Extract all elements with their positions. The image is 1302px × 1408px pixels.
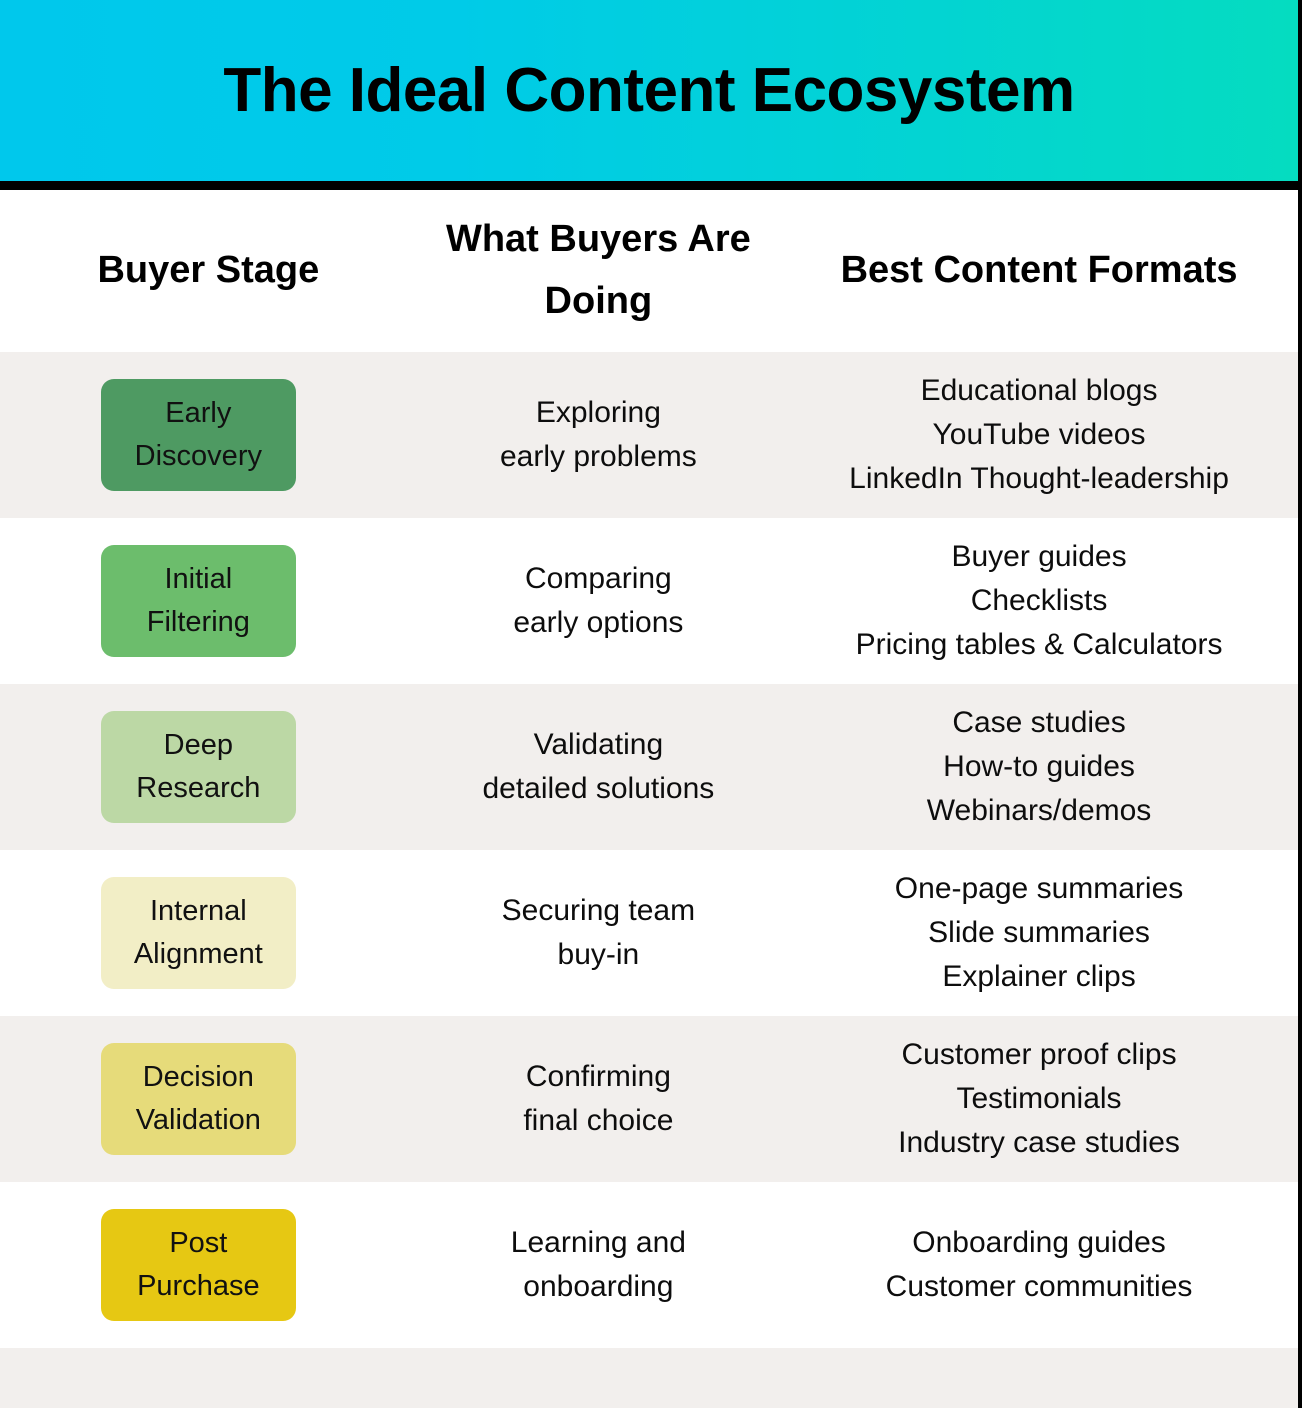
cell-doing: Confirming final choice [417, 1055, 780, 1143]
cell-stage: Initial Filtering [0, 545, 417, 657]
stage-badge-line1: Initial [164, 558, 232, 602]
stage-badge-line1: Decision [143, 1056, 254, 1100]
format-item: Onboarding guides [886, 1221, 1193, 1265]
formats-list: Educational blogsYouTube videosLinkedIn … [849, 369, 1229, 501]
header-formats-line1: Best Content [841, 249, 1077, 291]
cell-stage: Decision Validation [0, 1043, 417, 1155]
stage-badge: Initial Filtering [101, 545, 296, 657]
format-item: Industry case studies [898, 1121, 1180, 1165]
stage-badge-line1: Internal [150, 890, 247, 934]
stage-badge: Decision Validation [101, 1043, 296, 1155]
doing-line2: early options [513, 601, 683, 645]
cell-formats: Onboarding guidesCustomer communities [780, 1221, 1298, 1309]
cell-doing: Securing team buy-in [417, 889, 780, 977]
header-cell-doing: What Buyers Are Doing [417, 209, 780, 332]
doing-line1: Securing team [502, 889, 695, 933]
doing-text: Confirming final choice [523, 1055, 673, 1143]
table-header-row: Buyer Stage What Buyers Are Doing Best C… [0, 190, 1298, 352]
doing-line2: detailed solutions [482, 767, 714, 811]
format-item: Buyer guides [856, 535, 1223, 579]
header-doing-line1: What Buyers [446, 218, 678, 260]
cell-stage: Deep Research [0, 711, 417, 823]
stage-badge-line2: Research [136, 767, 260, 811]
cell-formats: Educational blogsYouTube videosLinkedIn … [780, 369, 1298, 501]
cell-stage: Post Purchase [0, 1209, 417, 1321]
format-item: Customer proof clips [898, 1033, 1180, 1077]
format-item: One-page summaries [895, 867, 1183, 911]
stage-badge-line2: Discovery [135, 435, 262, 479]
header-label-formats: Best Content Formats [841, 240, 1238, 302]
cell-doing: Learning and onboarding [417, 1221, 780, 1309]
cell-formats: Customer proof clipsTestimonialsIndustry… [780, 1033, 1298, 1165]
doing-text: Exploring early problems [500, 391, 697, 479]
doing-line2: final choice [523, 1099, 673, 1143]
header-stage-line1: Buyer [97, 249, 205, 291]
table-row: Initial Filtering Comparing early option… [0, 518, 1298, 684]
format-item: Case studies [927, 701, 1152, 745]
stage-badge-line1: Deep [164, 724, 233, 768]
table-row: Decision Validation Confirming final cho… [0, 1016, 1298, 1182]
table-row: Deep Research Validating detailed soluti… [0, 684, 1298, 850]
stage-badge: Early Discovery [101, 379, 296, 491]
cell-stage: Internal Alignment [0, 877, 417, 989]
format-item: Educational blogs [849, 369, 1229, 413]
table-row: Post Purchase Learning and onboarding On… [0, 1182, 1298, 1348]
header-divider [0, 181, 1298, 190]
format-item: Explainer clips [895, 955, 1183, 999]
header-cell-formats: Best Content Formats [780, 240, 1298, 302]
doing-line1: Learning and [511, 1221, 686, 1265]
cell-doing: Exploring early problems [417, 391, 780, 479]
cell-formats: One-page summariesSlide summariesExplain… [780, 867, 1298, 999]
formats-list: Case studiesHow-to guidesWebinars/demos [927, 701, 1152, 833]
doing-line1: Confirming [523, 1055, 673, 1099]
cell-stage: Early Discovery [0, 379, 417, 491]
doing-line1: Validating [482, 723, 714, 767]
header-banner: The Ideal Content Ecosystem [0, 0, 1298, 181]
stage-badge-line1: Early [165, 392, 231, 436]
stage-badge-line2: Validation [136, 1099, 261, 1143]
format-item: How-to guides [927, 745, 1152, 789]
infographic-page: The Ideal Content Ecosystem Buyer Stage … [0, 0, 1302, 1408]
cell-formats: Case studiesHow-to guidesWebinars/demos [780, 701, 1298, 833]
formats-list: Customer proof clipsTestimonialsIndustry… [898, 1033, 1180, 1165]
format-item: Checklists [856, 579, 1223, 623]
doing-line2: early problems [500, 435, 697, 479]
stage-badge-line2: Purchase [137, 1265, 260, 1309]
doing-line1: Exploring [500, 391, 697, 435]
doing-line2: onboarding [511, 1265, 686, 1309]
doing-line1: Comparing [513, 557, 683, 601]
format-item: Testimonials [898, 1077, 1180, 1121]
formats-list: Buyer guidesChecklistsPricing tables & C… [856, 535, 1223, 667]
table-footer-band [0, 1348, 1298, 1408]
stage-badge-line2: Alignment [134, 933, 263, 977]
doing-line2: buy-in [502, 933, 695, 977]
header-formats-line2: Formats [1088, 249, 1238, 291]
format-item: Webinars/demos [927, 789, 1152, 833]
cell-doing: Validating detailed solutions [417, 723, 780, 811]
table-row: Early Discovery Exploring early problems… [0, 352, 1298, 518]
stage-badge: Deep Research [101, 711, 296, 823]
stage-badge-line2: Filtering [147, 601, 250, 645]
cell-formats: Buyer guidesChecklistsPricing tables & C… [780, 535, 1298, 667]
header-label-stage: Buyer Stage [97, 240, 319, 302]
formats-list: Onboarding guidesCustomer communities [886, 1221, 1193, 1309]
format-item: Slide summaries [895, 911, 1183, 955]
format-item: Pricing tables & Calculators [856, 623, 1223, 667]
doing-text: Comparing early options [513, 557, 683, 645]
page-title: The Ideal Content Ecosystem [223, 58, 1074, 123]
doing-text: Securing team buy-in [502, 889, 695, 977]
table-row: Internal Alignment Securing team buy-in … [0, 850, 1298, 1016]
format-item: YouTube videos [849, 413, 1229, 457]
formats-list: One-page summariesSlide summariesExplain… [895, 867, 1183, 999]
header-label-doing: What Buyers Are Doing [417, 209, 780, 332]
format-item: LinkedIn Thought-leadership [849, 457, 1229, 501]
doing-text: Learning and onboarding [511, 1221, 686, 1309]
cell-doing: Comparing early options [417, 557, 780, 645]
format-item: Customer communities [886, 1265, 1193, 1309]
stage-badge-line1: Post [169, 1222, 227, 1266]
doing-text: Validating detailed solutions [482, 723, 714, 811]
header-stage-line2: Stage [216, 249, 319, 291]
stage-badge: Internal Alignment [101, 877, 296, 989]
header-cell-stage: Buyer Stage [0, 240, 417, 302]
content-table: Buyer Stage What Buyers Are Doing Best C… [0, 190, 1298, 1408]
stage-badge: Post Purchase [101, 1209, 296, 1321]
